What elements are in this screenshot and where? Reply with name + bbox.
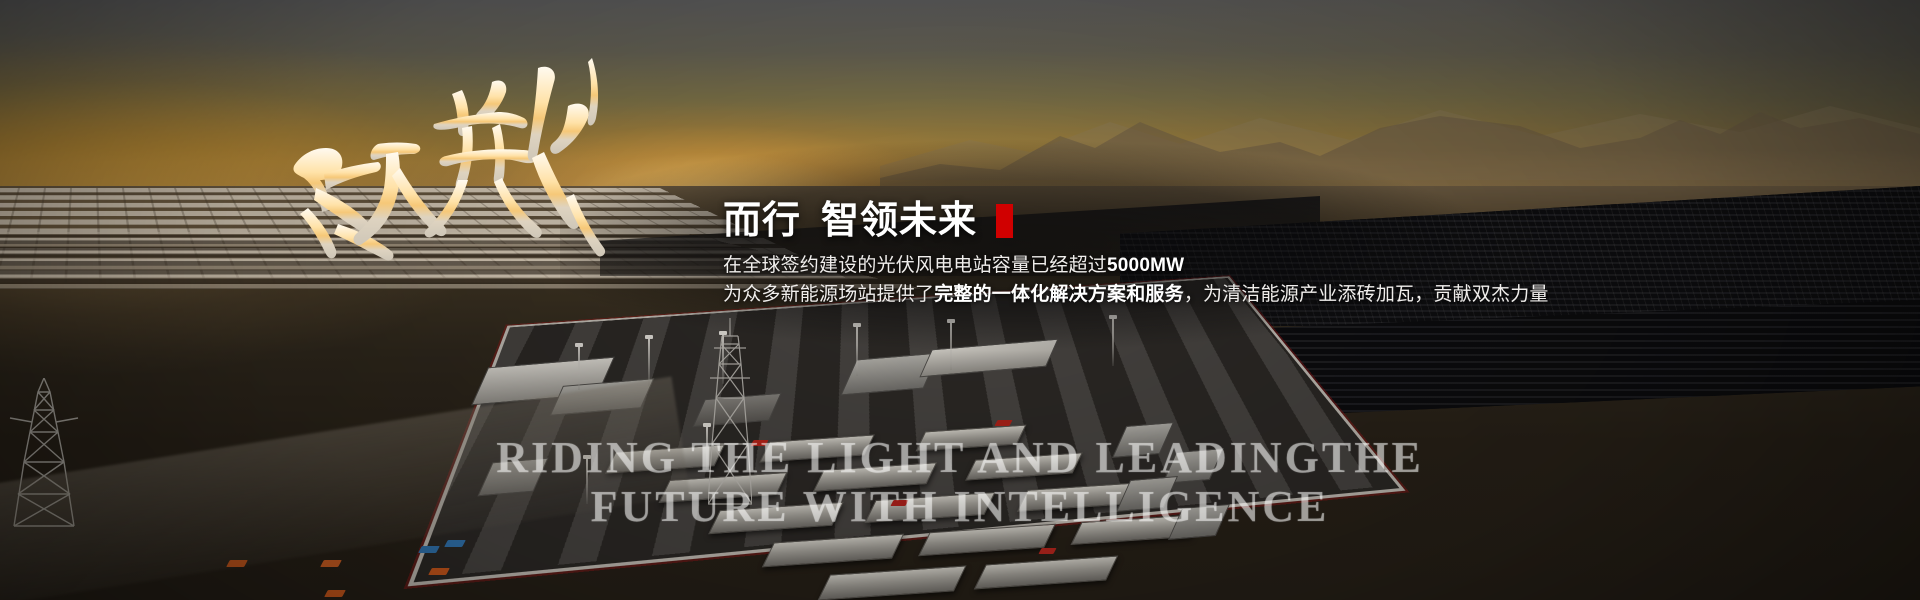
- ground-flag-orange: [320, 560, 342, 567]
- ground-flag-orange: [428, 568, 450, 575]
- ground-flag-blue: [444, 540, 466, 547]
- page-title: 而行 智领未来: [723, 200, 1603, 243]
- yard-light-pole: [950, 322, 952, 370]
- yard-light-pole: [1112, 318, 1114, 366]
- headline-part-b: 智领未来: [821, 200, 977, 243]
- headline-copy-block: 而行 智领未来 在全球签约建设的光伏风电电站容量已经超过5000MW 为众多新能…: [723, 200, 1603, 309]
- red-accent-block: [996, 204, 1013, 238]
- subline-2-highlight: 完整的一体化解决方案和服务: [934, 284, 1184, 305]
- subline-2-text-b: ，为清洁能源产业添砖加瓦，贡献双杰力量: [1184, 284, 1549, 305]
- hero-banner: 而行 智领未来 在全球签约建设的光伏风电电站容量已经超过5000MW 为众多新能…: [0, 0, 1920, 600]
- subline-1-highlight: 5000MW: [1107, 255, 1184, 276]
- subline-services: 为众多新能源场站提供了完整的一体化解决方案和服务，为清洁能源产业添砖加瓦，贡献双…: [723, 281, 1603, 309]
- ground-flag-blue: [418, 546, 440, 553]
- ground-flag-orange: [324, 590, 346, 597]
- safety-marker: [1038, 548, 1056, 554]
- safety-marker: [994, 420, 1012, 426]
- ground-flag-orange: [226, 560, 248, 567]
- subline-capacity: 在全球签约建设的光伏风电电站容量已经超过5000MW: [723, 252, 1603, 280]
- yard-light-pole: [578, 346, 580, 390]
- mountain-range-near: [880, 78, 1920, 186]
- subline-1-text: 在全球签约建设的光伏风电电站容量已经超过: [723, 255, 1107, 276]
- headline-part-a: 而行: [723, 200, 801, 243]
- battery-container: [974, 556, 1119, 590]
- subline-2-text-a: 为众多新能源场站提供了: [723, 284, 934, 305]
- safety-marker: [750, 440, 768, 446]
- transmission-pylon-center: [708, 318, 752, 510]
- safety-marker: [890, 500, 908, 506]
- battery-container: [817, 565, 966, 600]
- yard-light-pole: [856, 326, 858, 376]
